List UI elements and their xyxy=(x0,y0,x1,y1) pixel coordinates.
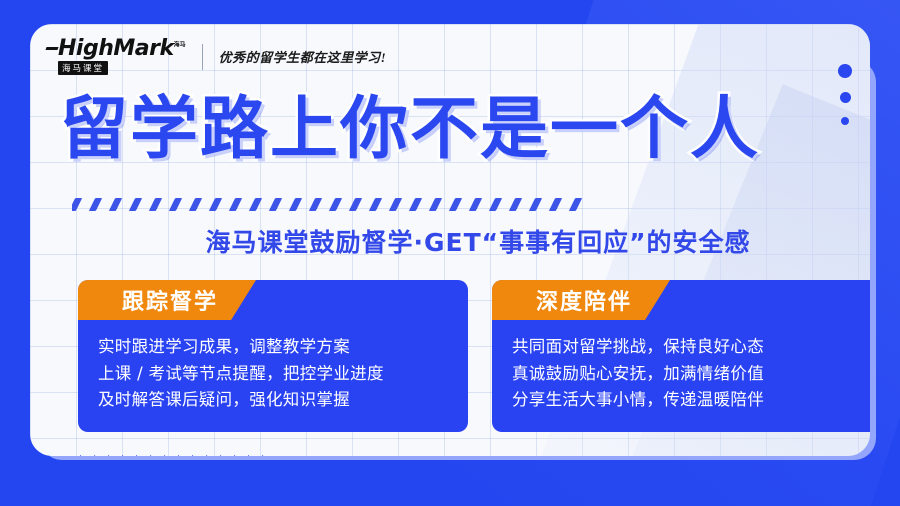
arrow-right-icon xyxy=(122,455,132,456)
dash-mark-icon xyxy=(229,198,242,211)
arrow-right-icon xyxy=(262,455,272,456)
dash-mark-icon xyxy=(349,198,362,211)
dash-mark-icon xyxy=(549,198,562,211)
panel-content: HighMark海马 海马课堂 优秀的留学生都在这里学习! 留学路上你不是一个人… xyxy=(30,24,870,456)
arrow-right-icon xyxy=(248,455,258,456)
dash-mark-icon xyxy=(489,198,502,211)
arrow-right-icon xyxy=(108,455,118,456)
logo-superscript: 海马 xyxy=(174,42,186,49)
card-body-line: 分享生活大事小情，传递温暖陪伴 xyxy=(512,387,866,414)
arrow-right-icon xyxy=(234,455,244,456)
card-header: 跟踪督学 xyxy=(78,280,468,320)
brand-tagline: 优秀的留学生都在这里学习! xyxy=(219,47,387,66)
dashed-divider xyxy=(72,198,862,212)
dash-mark-icon xyxy=(469,198,482,211)
logo-wordmark-text: HighMark xyxy=(58,36,174,61)
dash-mark-icon xyxy=(72,198,82,211)
feature-cards: 跟踪督学 实时跟进学习成果，调整教学方案 上课 / 考试等节点提醒，把控学业进度… xyxy=(78,280,870,432)
dot-large-icon xyxy=(838,64,852,78)
dash-mark-icon xyxy=(309,198,322,211)
dash-mark-icon xyxy=(129,198,142,211)
card-header: 深度陪伴 xyxy=(492,280,870,320)
dash-mark-icon xyxy=(169,198,182,211)
card-body: 实时跟进学习成果，调整教学方案 上课 / 考试等节点提醒，把控学业进度 及时解答… xyxy=(78,320,468,418)
card-title: 跟踪督学 xyxy=(122,284,218,316)
dash-mark-icon xyxy=(329,198,342,211)
page-subtitle: 海马课堂鼓励督学·GET“事事有回应”的安全感 xyxy=(78,223,870,259)
dash-mark-icon xyxy=(269,198,282,211)
arrow-right-icon xyxy=(80,455,90,456)
arrow-right-icon xyxy=(206,455,216,456)
dash-mark-icon xyxy=(89,198,102,211)
arrow-row-decoration xyxy=(80,455,272,456)
arrow-right-icon xyxy=(164,455,174,456)
arrow-right-icon xyxy=(178,455,188,456)
feature-card: 跟踪督学 实时跟进学习成果，调整教学方案 上课 / 考试等节点提醒，把控学业进度… xyxy=(78,280,468,432)
poster-canvas: HighMark海马 海马课堂 优秀的留学生都在这里学习! 留学路上你不是一个人… xyxy=(0,0,900,506)
logo-dash-icon xyxy=(45,47,58,50)
dash-mark-icon xyxy=(109,198,122,211)
card-body-line: 及时解答课后疑问，强化知识掌握 xyxy=(98,387,452,414)
dash-mark-icon xyxy=(409,198,422,211)
arrow-right-icon xyxy=(94,455,104,456)
dash-mark-icon xyxy=(509,198,522,211)
dash-mark-icon xyxy=(189,198,202,211)
feature-card: 深度陪伴 共同面对留学挑战，保持良好心态 真诚鼓励贴心安抚，加满情绪价值 分享生… xyxy=(492,280,870,432)
arrow-right-icon xyxy=(150,455,160,456)
dash-mark-icon xyxy=(389,198,402,211)
page-title: 留学路上你不是一个人 xyxy=(60,96,850,164)
highmark-logo: HighMark海马 海马课堂 xyxy=(58,38,186,75)
arrow-right-icon xyxy=(220,455,230,456)
arrow-right-icon xyxy=(136,455,146,456)
card-body-line: 实时跟进学习成果，调整教学方案 xyxy=(98,334,452,361)
dot-small-icon xyxy=(841,117,849,125)
dash-mark-icon xyxy=(429,198,442,211)
dash-mark-icon xyxy=(249,198,262,211)
dash-mark-icon xyxy=(289,198,302,211)
dash-mark-icon xyxy=(569,198,582,211)
logo-divider xyxy=(202,44,203,70)
card-body-line: 上课 / 考试等节点提醒，把控学业进度 xyxy=(98,361,452,388)
card-body-line: 共同面对留学挑战，保持良好心态 xyxy=(512,334,866,361)
brand-header: HighMark海马 海马课堂 优秀的留学生都在这里学习! xyxy=(58,38,386,75)
dash-mark-icon xyxy=(369,198,382,211)
dash-mark-icon xyxy=(149,198,162,211)
card-body: 共同面对留学挑战，保持良好心态 真诚鼓励贴心安抚，加满情绪价值 分享生活大事小情… xyxy=(492,320,870,418)
logo-chinese-name: 海马课堂 xyxy=(58,61,108,75)
dash-mark-icon xyxy=(529,198,542,211)
dash-mark-icon xyxy=(209,198,222,211)
dot-stack-decoration xyxy=(838,64,852,125)
card-title: 深度陪伴 xyxy=(536,284,632,316)
main-panel: HighMark海马 海马课堂 优秀的留学生都在这里学习! 留学路上你不是一个人… xyxy=(30,24,870,456)
dot-medium-icon xyxy=(840,92,851,103)
arrow-right-icon xyxy=(192,455,202,456)
logo-wordmark: HighMark海马 xyxy=(58,38,186,60)
dash-mark-icon xyxy=(449,198,462,211)
card-body-line: 真诚鼓励贴心安抚，加满情绪价值 xyxy=(512,361,866,388)
